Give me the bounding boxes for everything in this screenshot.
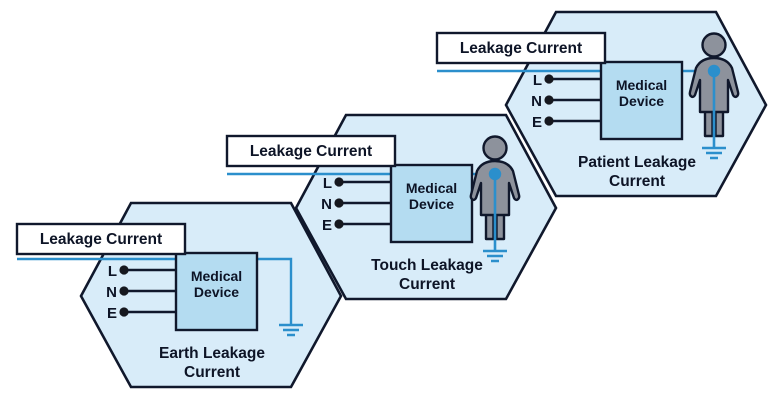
caption-touch-line2: Current: [399, 276, 455, 293]
lead-label-patient-e: E: [532, 114, 542, 131]
lead-dot-earth-l: [119, 265, 128, 274]
lead-label-patient-n: N: [531, 93, 542, 110]
lead-dot-touch-n: [334, 198, 343, 207]
lead-label-earth-e: E: [107, 305, 117, 322]
person-contact-point-patient: [708, 65, 720, 77]
device-label-touch-line1: Medical: [406, 180, 457, 196]
device-label-patient-line2: Device: [619, 93, 664, 109]
lead-dot-patient-n: [544, 95, 553, 104]
panel-earth-leakage: Medical Device L N E Leakage Current Ear…: [17, 203, 341, 387]
lead-label-patient-l: L: [533, 72, 542, 89]
caption-touch-line1: Touch Leakage: [371, 257, 483, 274]
lead-label-touch-n: N: [321, 196, 332, 213]
device-label-touch-line2: Device: [409, 196, 454, 212]
callout-label-earth: Leakage Current: [40, 231, 162, 248]
lead-dot-patient-e: [544, 116, 553, 125]
lead-dot-touch-l: [334, 177, 343, 186]
lead-label-earth-l: L: [108, 263, 117, 280]
callout-label-patient: Leakage Current: [460, 40, 582, 57]
callout-label-touch: Leakage Current: [250, 143, 372, 160]
caption-earth-line1: Earth Leakage: [159, 345, 265, 362]
device-label-earth-line1: Medical: [191, 268, 242, 284]
device-label-patient-line1: Medical: [616, 77, 667, 93]
person-head-patient: [703, 34, 726, 57]
person-head-touch: [484, 137, 507, 160]
lead-dot-earth-e: [119, 307, 128, 316]
caption-earth-line2: Current: [184, 364, 240, 381]
lead-label-touch-l: L: [323, 175, 332, 192]
lead-label-earth-n: N: [106, 284, 117, 301]
device-label-earth-line2: Device: [194, 284, 239, 300]
leakage-current-diagram: Medical Device L N E Leakage Current: [0, 0, 777, 405]
lead-dot-patient-l: [544, 74, 553, 83]
caption-patient-line2: Current: [609, 173, 665, 190]
caption-patient-line1: Patient Leakage: [578, 154, 696, 171]
lead-label-touch-e: E: [322, 217, 332, 234]
diagram-canvas: Medical Device L N E Leakage Current: [0, 0, 777, 405]
lead-dot-touch-e: [334, 219, 343, 228]
person-contact-point-touch: [489, 168, 501, 180]
lead-dot-earth-n: [119, 286, 128, 295]
